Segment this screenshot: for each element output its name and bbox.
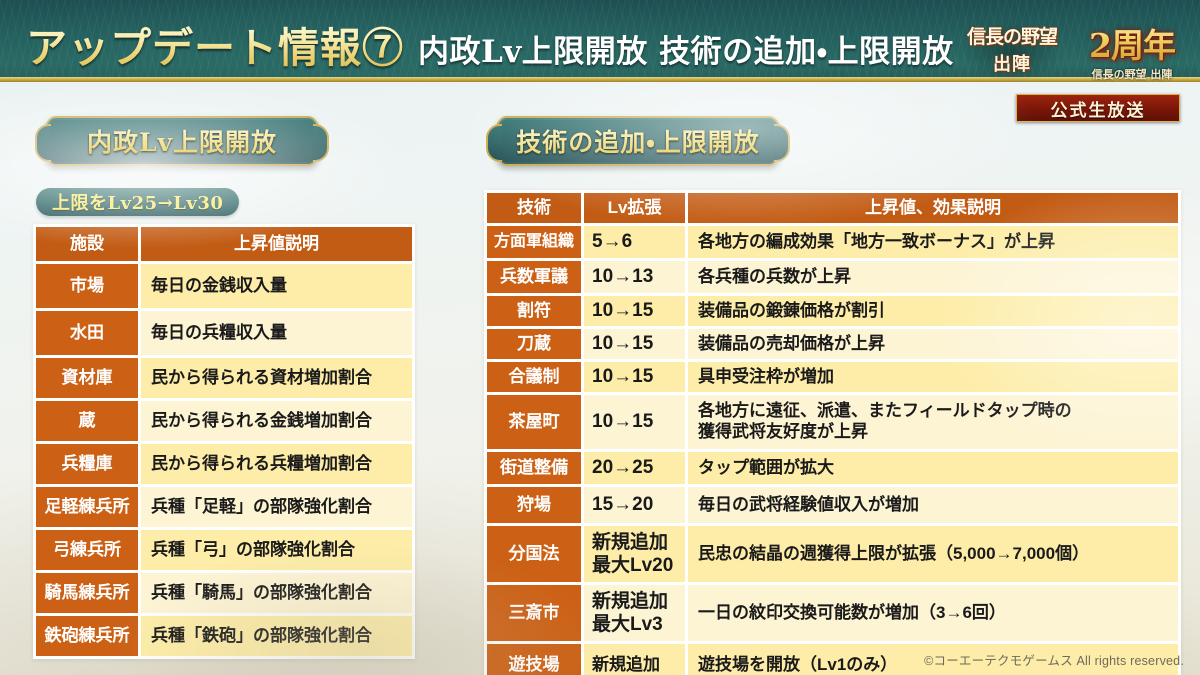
anniversary-logo-subtext: 信長の野望 出陣 [1092,66,1173,82]
row-label: 兵数軍議 [487,261,581,293]
row-label: 割符 [487,296,581,326]
row-label: 鉄砲練兵所 [36,616,138,656]
table-row: 茶屋町 10→15 各地方に遠征、派遣、またフィールドタップ時の 獲得武将友好度… [487,395,1178,449]
table-row: 刀蔵 10→15 装備品の売却価格が上昇 [487,329,1178,359]
row-description: 民忠の結晶の週獲得上限が拡張（5,000→7,000個） [688,526,1178,582]
row-description-line2: 獲得武将友好度が上昇 [698,422,1072,443]
row-lv: 10→15 [584,296,685,326]
page-title-main: アップデート情報⑦ [26,14,404,74]
table-header-row: 施設 上昇値説明 [36,227,412,261]
row-label: 三斎市 [487,585,581,641]
row-description: 具申受注枠が増加 [688,362,1178,392]
live-broadcast-badge-label: 公式生放送 [1051,96,1146,121]
row-lv: 20→25 [584,452,685,484]
cap-raise-badge-label: 上限をLv25→Lv30 [52,189,223,215]
table-row: 蔵 民から得られる金銭増加割合 [36,401,412,441]
table-row: 割符 10→15 装備品の鍛錬価格が割引 [487,296,1178,326]
row-label: 茶屋町 [487,395,581,449]
row-description: 装備品の売却価格が上昇 [688,329,1178,359]
row-description: 兵種「弓」の部隊強化割合 [141,530,412,570]
logo-group: 信長の野望 出陣 2周年 信長の野望 出陣 公式生放送 [948,4,1194,120]
row-label: 刀蔵 [487,329,581,359]
row-description: 兵種「鉄砲」の部隊強化割合 [141,616,412,656]
row-lv-lines: 新規追加 最大Lv20 [592,531,673,577]
technology-table: 技術 Lv拡張 上昇値、効果説明 方面軍組織 5→6 各地方の編成効果「地方一致… [484,190,1181,675]
row-description: 各地方に遠征、派遣、またフィールドタップ時の 獲得武将友好度が上昇 [688,395,1178,449]
table-row: 弓練兵所 兵種「弓」の部隊強化割合 [36,530,412,570]
row-description: 兵種「足軽」の部隊強化割合 [141,487,412,527]
row-lv: 15→20 [584,487,685,523]
row-lv-line1: 新規追加 [592,531,673,554]
row-lv: 10→13 [584,261,685,293]
row-label: 水田 [36,311,138,355]
page-title: アップデート情報⑦ 内政Lv上限開放 技術の追加・上限開放 [26,14,954,74]
table-row: 水田 毎日の兵糧収入量 [36,311,412,355]
section-title-technology-label: 技術の追加・上限開放 [516,123,760,159]
game-logo-line2: 出陣 [993,50,1031,76]
row-description: 装備品の鍛錬価格が割引 [688,296,1178,326]
anniversary-logo-icon: 2周年 信長の野望 出陣 [1076,10,1188,90]
row-description: 各地方の編成効果「地方一致ボーナス」が上昇 [688,226,1178,258]
game-logo-icon: 信長の野望 出陣 [952,12,1072,86]
table-row: 三斎市 新規追加 最大Lv3 一日の紋印交換可能数が増加（3→6回） [487,585,1178,641]
table-row: 合議制 10→15 具申受注枠が増加 [487,362,1178,392]
row-label: 弓練兵所 [36,530,138,570]
column-header-effect: 上昇値説明 [141,227,412,261]
table-row: 街道整備 20→25 タップ範囲が拡大 [487,452,1178,484]
row-lv: 新規追加 [584,644,685,675]
table-row: 兵数軍議 10→13 各兵種の兵数が上昇 [487,261,1178,293]
row-description: 毎日の武将経験値収入が増加 [688,487,1178,523]
row-description: 兵種「騎馬」の部隊強化割合 [141,573,412,613]
row-label: 足軽練兵所 [36,487,138,527]
row-lv: 10→15 [584,329,685,359]
column-header-lv-expansion: Lv拡張 [584,193,685,223]
row-label: 兵糧庫 [36,444,138,484]
row-description: 一日の紋印交換可能数が増加（3→6回） [688,585,1178,641]
row-description: 民から得られる金銭増加割合 [141,401,412,441]
table-row: 騎馬練兵所 兵種「騎馬」の部隊強化割合 [36,573,412,613]
row-label: 合議制 [487,362,581,392]
game-logo-line1: 信長の野望 [967,22,1057,49]
row-description: 各兵種の兵数が上昇 [688,261,1178,293]
table-row: 狩場 15→20 毎日の武将経験値収入が増加 [487,487,1178,523]
table-header-row: 技術 Lv拡張 上昇値、効果説明 [487,193,1178,223]
row-label: 市場 [36,264,138,308]
row-description-lines: 各地方に遠征、派遣、またフィールドタップ時の 獲得武将友好度が上昇 [698,401,1072,442]
row-description: タップ範囲が拡大 [688,452,1178,484]
section-title-internal-affairs-label: 内政Lv上限開放 [87,123,277,159]
row-label: 分国法 [487,526,581,582]
section-title-internal-affairs: 内政Lv上限開放 [42,116,322,166]
row-description: 毎日の兵糧収入量 [141,311,412,355]
row-lv: 5→6 [584,226,685,258]
row-lv-line2: 最大Lv3 [592,613,668,636]
row-lv: 10→15 [584,362,685,392]
section-title-technology: 技術の追加・上限開放 [493,116,783,166]
row-lv-lines: 新規追加 最大Lv3 [592,590,668,636]
row-description: 民から得られる資材増加割合 [141,358,412,398]
table-row: 兵糧庫 民から得られる兵糧増加割合 [36,444,412,484]
column-header-facility: 施設 [36,227,138,261]
page-title-sub: 内政Lv上限開放 技術の追加・上限開放 [418,26,954,71]
column-header-technology: 技術 [487,193,581,223]
anniversary-logo-text: 2周年 [1089,19,1175,67]
table-row: 足軽練兵所 兵種「足軽」の部隊強化割合 [36,487,412,527]
row-description: 毎日の金銭収入量 [141,264,412,308]
table-row: 鉄砲練兵所 兵種「鉄砲」の部隊強化割合 [36,616,412,656]
table-row: 分国法 新規追加 最大Lv20 民忠の結晶の週獲得上限が拡張（5,000→7,0… [487,526,1178,582]
row-lv: 新規追加 最大Lv20 [584,526,685,582]
row-description: 民から得られる兵糧増加割合 [141,444,412,484]
row-label: 方面軍組織 [487,226,581,258]
row-label: 狩場 [487,487,581,523]
row-lv: 10→15 [584,395,685,449]
copyright-text: ©コーエーテクモゲームス All rights reserved. [924,650,1184,669]
table-row: 市場 毎日の金銭収入量 [36,264,412,308]
cap-raise-badge: 上限をLv25→Lv30 [36,188,239,216]
row-lv-line1: 新規追加 [592,590,668,613]
row-label: 街道整備 [487,452,581,484]
row-label: 資材庫 [36,358,138,398]
row-label: 遊技場 [487,644,581,675]
row-lv: 新規追加 最大Lv3 [584,585,685,641]
column-header-effect: 上昇値、効果説明 [688,193,1178,223]
table-row: 資材庫 民から得られる資材増加割合 [36,358,412,398]
live-broadcast-badge: 公式生放送 [1016,94,1180,122]
row-label: 蔵 [36,401,138,441]
table-row: 方面軍組織 5→6 各地方の編成効果「地方一致ボーナス」が上昇 [487,226,1178,258]
internal-affairs-table: 施設 上昇値説明 市場 毎日の金銭収入量 水田 毎日の兵糧収入量 資材庫 民から… [33,224,415,659]
slide-root: アップデート情報⑦ 内政Lv上限開放 技術の追加・上限開放 信長の野望 出陣 2… [0,0,1200,675]
row-lv-line2: 最大Lv20 [592,554,673,577]
row-description-line1: 各地方に遠征、派遣、またフィールドタップ時の [698,401,1072,422]
row-label: 騎馬練兵所 [36,573,138,613]
